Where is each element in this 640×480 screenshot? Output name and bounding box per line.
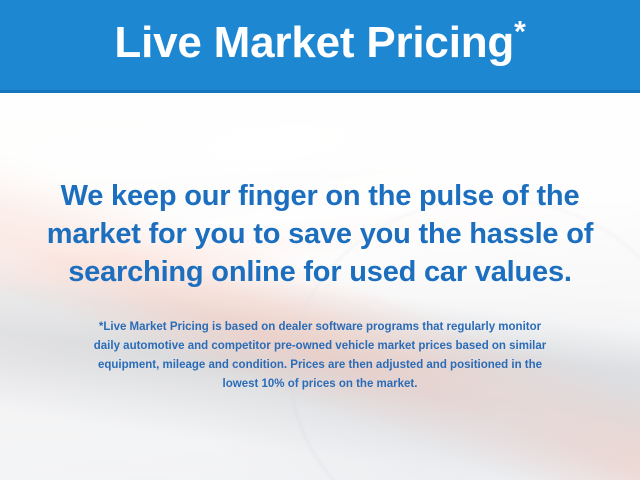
header-banner: Live Market Pricing*	[0, 0, 640, 93]
content-area: We keep our finger on the pulse of the m…	[0, 93, 640, 480]
headline-line: searching online for used car values.	[18, 253, 622, 291]
footnote-line: daily automotive and competitor pre-owne…	[26, 337, 614, 356]
headline-line: We keep our finger on the pulse of the	[18, 177, 622, 215]
footnote-disclaimer: *Live Market Pricing is based on dealer …	[0, 318, 640, 394]
banner-title-text: Live Market Pricing	[114, 18, 514, 67]
headline-block: We keep our finger on the pulse of the m…	[0, 177, 640, 291]
footnote-line: equipment, mileage and condition. Prices…	[26, 356, 614, 375]
live-market-pricing-promo-card: Live Market Pricing* We keep our finger …	[0, 0, 640, 480]
headline-line: market for you to save you the hassle of	[18, 215, 622, 253]
banner-title-asterisk: *	[514, 15, 525, 48]
banner-title: Live Market Pricing*	[114, 21, 525, 65]
footnote-line: *Live Market Pricing is based on dealer …	[26, 318, 614, 337]
footnote-line: lowest 10% of prices on the market.	[26, 375, 614, 394]
